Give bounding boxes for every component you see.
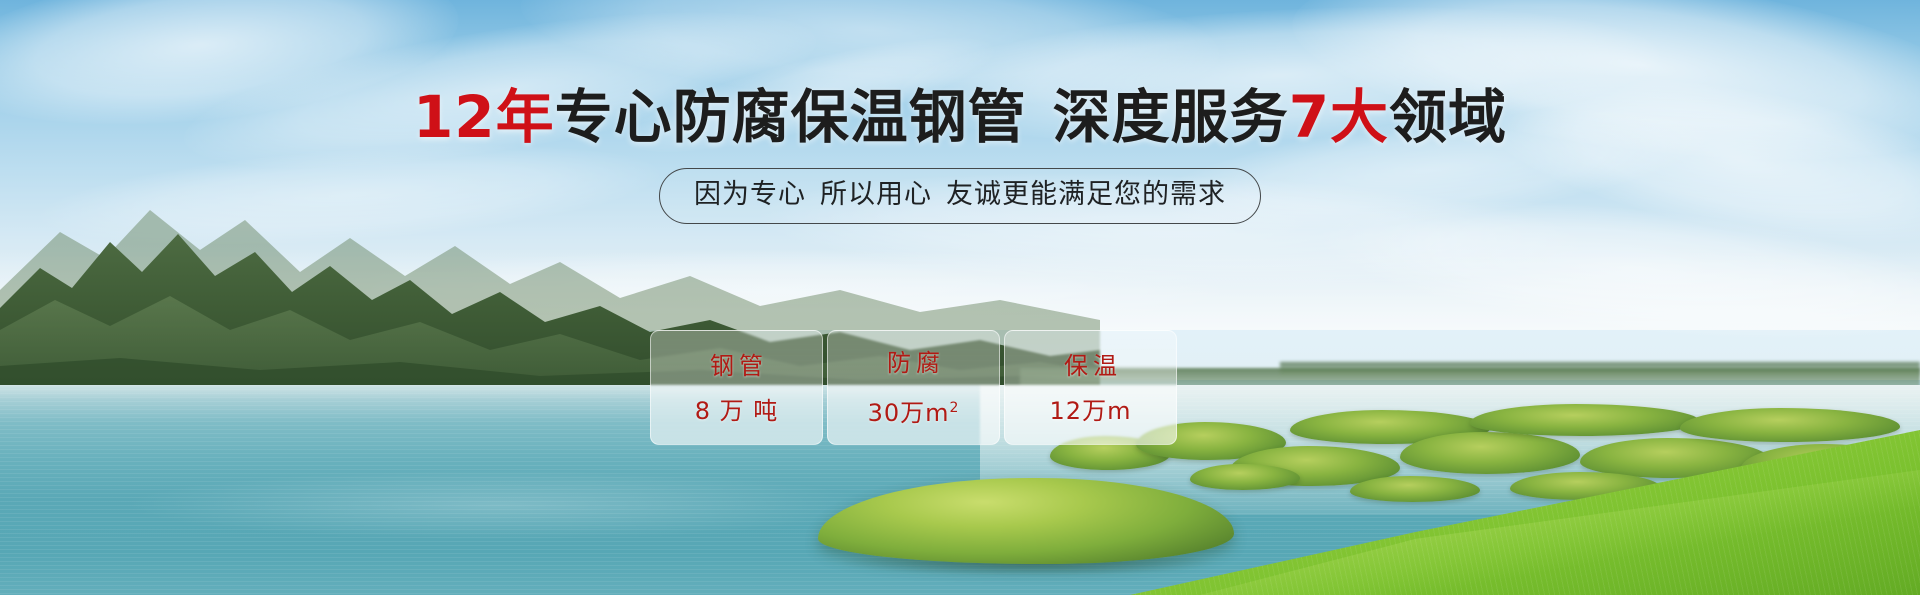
stat-card-title: 防腐: [882, 348, 945, 378]
headline-fields-highlight: 7大: [1289, 83, 1389, 151]
subtitle-container: 因为专心所以用心友诚更能满足您的需求: [0, 168, 1920, 224]
headline-fields-text: 领域: [1389, 83, 1507, 151]
stat-card-value: 30万m2: [868, 394, 960, 427]
stat-card-value-main: 12万m: [1050, 397, 1132, 425]
stat-card-value: 8 万 吨: [695, 397, 779, 425]
stat-card-value-exponent: 2: [950, 400, 960, 416]
stat-card-value: 12万m: [1050, 397, 1132, 425]
water-glint: [120, 470, 880, 540]
marsh-patch: [1680, 408, 1900, 442]
stat-card-insulation[interactable]: 保温 12万m: [1004, 330, 1177, 445]
distant-treeline-secondary: [1280, 362, 1920, 376]
headline-service-text: 深度服务: [1053, 83, 1289, 151]
marsh-patch: [1470, 404, 1700, 436]
stat-card-title: 钢管: [705, 351, 768, 381]
headline-main-text: 专心防腐保温钢管: [555, 83, 1027, 151]
stat-card-value-main: 8 万 吨: [695, 397, 779, 425]
subtitle-pill: 因为专心所以用心友诚更能满足您的需求: [659, 168, 1261, 224]
headline-years-highlight: 12年: [413, 83, 555, 151]
stat-card-value-main: 30万m: [868, 399, 950, 427]
marsh-patch: [1350, 476, 1480, 502]
stat-card-group: 钢管 8 万 吨 防腐 30万m2 保温 12万m: [650, 330, 1177, 445]
island-vegetation: [818, 478, 1234, 564]
stat-card-steel-pipe[interactable]: 钢管 8 万 吨: [650, 330, 823, 445]
stat-card-title: 保温: [1059, 351, 1122, 381]
subtitle-part-1: 因为专心: [694, 179, 806, 210]
page-title: 12年专心防腐保温钢管深度服务7大领域: [0, 86, 1920, 148]
hero-banner: 12年专心防腐保温钢管深度服务7大领域 因为专心所以用心友诚更能满足您的需求 钢…: [0, 0, 1920, 595]
stat-card-anticorrosion[interactable]: 防腐 30万m2: [827, 330, 1000, 445]
marsh-patch: [1400, 432, 1580, 474]
subtitle-part-2: 所以用心: [820, 179, 932, 210]
subtitle-part-3: 友诚更能满足您的需求: [946, 179, 1226, 210]
grass-island: [818, 478, 1234, 578]
